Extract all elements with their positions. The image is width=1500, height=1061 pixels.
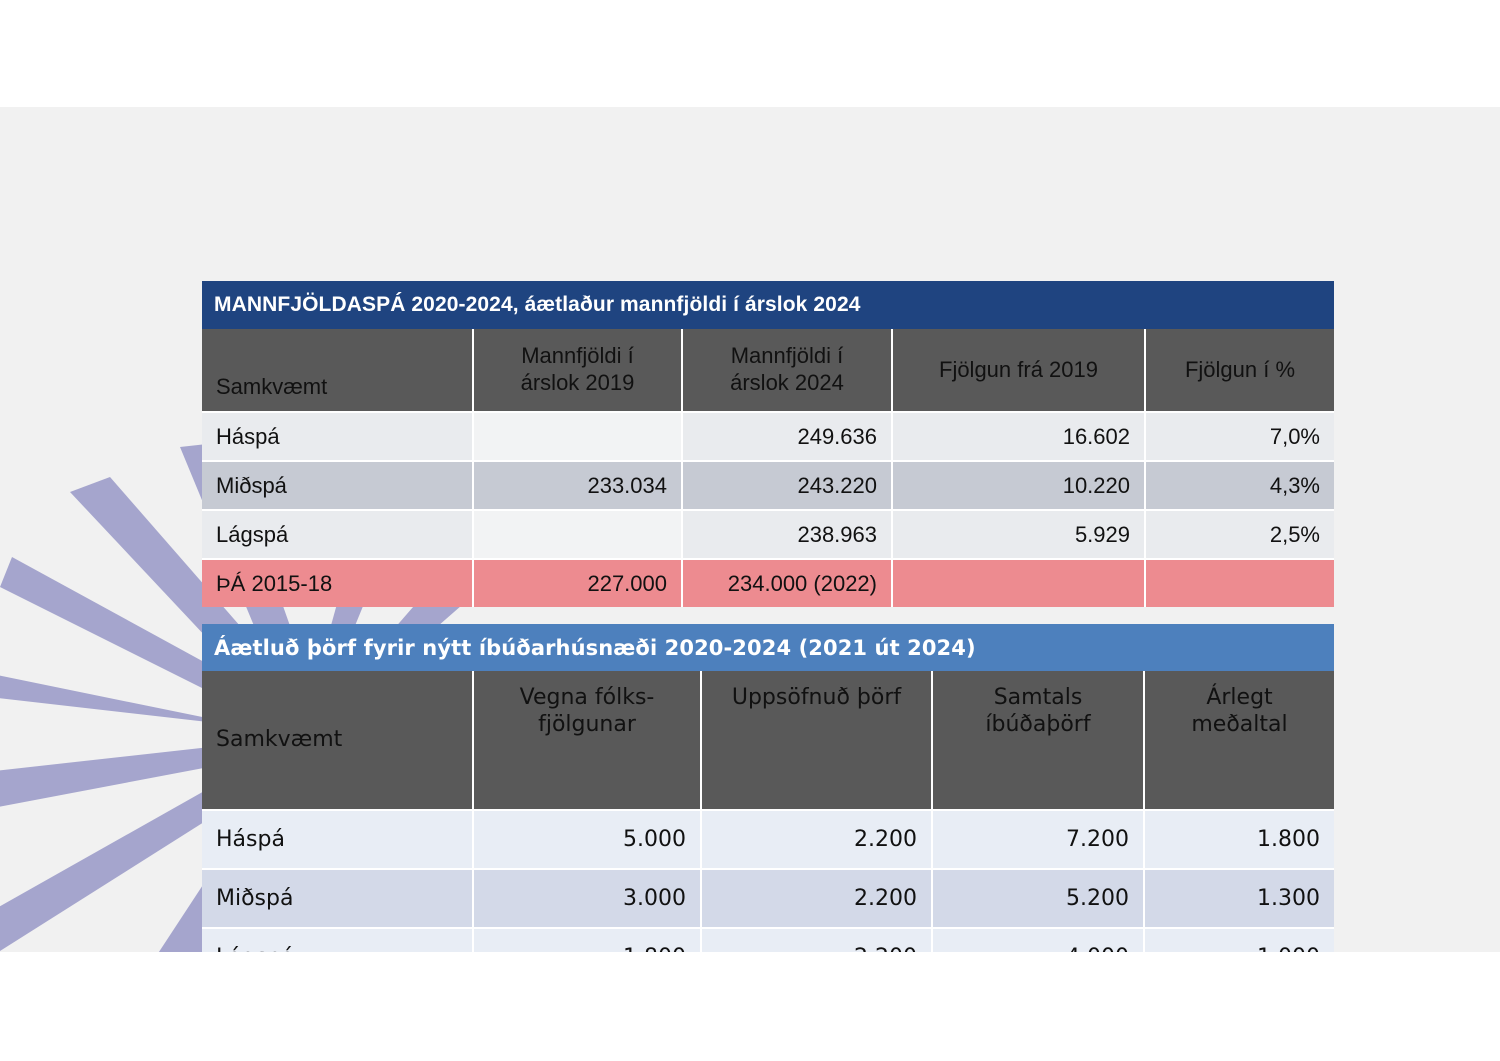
- table1-row-label: Miðspá: [202, 461, 473, 510]
- table2-cell-accumulated-need: 2.200: [701, 810, 932, 869]
- table1-cell-increase: 10.220: [892, 461, 1145, 510]
- table1-cell-population-2019: 227.000: [473, 559, 682, 607]
- table1-col-header-samkvaemt: Samkvæmt: [202, 329, 473, 412]
- table-row: Miðspá 233.034 243.220 10.220 4,3%: [202, 461, 1334, 510]
- table1-title: MANNFJÖLDASPÁ 2020-2024, áætlaður mannfj…: [202, 281, 1334, 329]
- slide-surface: MANNFJÖLDASPÁ 2020-2024, áætlaður mannfj…: [0, 107, 1500, 952]
- table1-cell-increase-percent: 7,0%: [1145, 412, 1334, 461]
- table1-row-label: Lágspá: [202, 510, 473, 559]
- table-row: Lágspá 238.963 5.929 2,5%: [202, 510, 1334, 559]
- table2-cell-population-growth: 5.000: [473, 810, 701, 869]
- table2-row-label: Háspá: [202, 810, 473, 869]
- population-forecast-table: MANNFJÖLDASPÁ 2020-2024, áætlaður mannfj…: [202, 281, 1334, 607]
- table1-cell-population-2024: 234.000 (2022): [682, 559, 892, 607]
- table1-col-header-increase-percent: Fjölgun í %: [1145, 329, 1334, 412]
- table2-cell-annual-average: 1.000: [1144, 928, 1334, 952]
- table1-cell-increase-percent: [1145, 559, 1334, 607]
- table2-col-header-total-housing-need: Samtals íbúðaþörf: [932, 671, 1144, 810]
- table1-cell-increase-percent: 2,5%: [1145, 510, 1334, 559]
- table1-cell-increase: 16.602: [892, 412, 1145, 461]
- table2-grid: Samkvæmt Vegna fólks- fjölgunar Uppsöfnu…: [202, 671, 1334, 952]
- slide-canvas: MANNFJÖLDASPÁ 2020-2024, áætlaður mannfj…: [0, 0, 1500, 1061]
- table1-col-header-increase-since-2019: Fjölgun frá 2019: [892, 329, 1145, 412]
- table1-cell-increase: 5.929: [892, 510, 1145, 559]
- table2-cell-annual-average: 1.300: [1144, 869, 1334, 928]
- table1-col-header-population-2024: Mannfjöldi í árslok 2024: [682, 329, 892, 412]
- table2-cell-accumulated-need: 2.200: [701, 869, 932, 928]
- table-row: Háspá 5.000 2.200 7.200 1.800: [202, 810, 1334, 869]
- table1-grid: Samkvæmt Mannfjöldi í árslok 2019 Mannfj…: [202, 329, 1334, 607]
- table2-title: Áætluð þörf fyrir nýtt íbúðarhúsnæði 202…: [202, 624, 1334, 671]
- table-row: Háspá 249.636 16.602 7,0%: [202, 412, 1334, 461]
- table1-cell-population-2024: 243.220: [682, 461, 892, 510]
- table2-cell-annual-average: 1.800: [1144, 810, 1334, 869]
- table2-cell-accumulated-need: 2.200: [701, 928, 932, 952]
- table1-cell-population-2019: [473, 412, 682, 461]
- table1-header-row: Samkvæmt Mannfjöldi í árslok 2019 Mannfj…: [202, 329, 1334, 412]
- table2-row-label: Miðspá: [202, 869, 473, 928]
- table2-cell-population-growth: 3.000: [473, 869, 701, 928]
- table2-col-header-accumulated-need: Uppsöfnuð þörf: [701, 671, 932, 810]
- table-row: Lágspá 1.800 2.200 4.000 1.000: [202, 928, 1334, 952]
- table1-row-label: ÞÁ 2015-18: [202, 559, 473, 607]
- table2-cell-total-need: 5.200: [932, 869, 1144, 928]
- table1-cell-increase-percent: 4,3%: [1145, 461, 1334, 510]
- table1-row-label: Háspá: [202, 412, 473, 461]
- table1-cell-increase: [892, 559, 1145, 607]
- table2-cell-total-need: 4.000: [932, 928, 1144, 952]
- table1-cell-population-2019: [473, 510, 682, 559]
- table1-col-header-population-2019: Mannfjöldi í árslok 2019: [473, 329, 682, 412]
- table2-header-row: Samkvæmt Vegna fólks- fjölgunar Uppsöfnu…: [202, 671, 1334, 810]
- table1-cell-population-2024: 249.636: [682, 412, 892, 461]
- table2-col-header-annual-average: Árlegt meðaltal: [1144, 671, 1334, 810]
- table1-cell-population-2024: 238.963: [682, 510, 892, 559]
- table2-col-header-samkvaemt: Samkvæmt: [202, 671, 473, 810]
- table1-cell-population-2019: 233.034: [473, 461, 682, 510]
- housing-need-table: Áætluð þörf fyrir nýtt íbúðarhúsnæði 202…: [202, 624, 1334, 952]
- table2-row-label: Lágspá: [202, 928, 473, 952]
- table2-cell-population-growth: 1.800: [473, 928, 701, 952]
- table2-col-header-due-to-population-growth: Vegna fólks- fjölgunar: [473, 671, 701, 810]
- table-row: Miðspá 3.000 2.200 5.200 1.300: [202, 869, 1334, 928]
- table-row-highlighted: ÞÁ 2015-18 227.000 234.000 (2022): [202, 559, 1334, 607]
- table2-cell-total-need: 7.200: [932, 810, 1144, 869]
